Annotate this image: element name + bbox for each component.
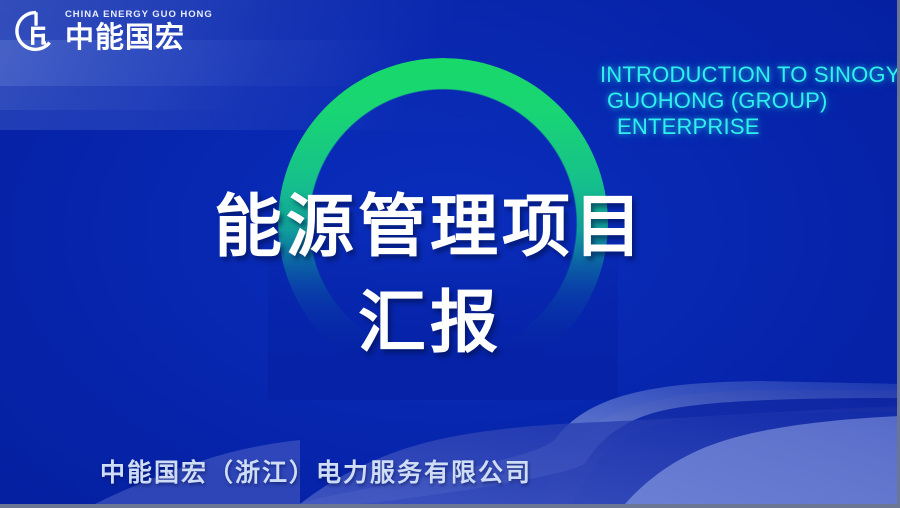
logo-english-name: CHINA ENERGY GUO HONG: [65, 10, 213, 20]
presentation-slide: CHINA ENERGY GUO HONG 中能国宏 INTRODUCTION …: [0, 0, 900, 508]
logo-wordmark: CHINA ENERGY GUO HONG 中能国宏: [65, 10, 213, 52]
page-title-line-2: 汇报: [0, 276, 860, 372]
english-subtitle-line-1: INTRODUCTION TO SINOGY: [600, 62, 900, 88]
english-subtitle-line-3: ENTERPRISE: [600, 114, 900, 140]
brand-logo: CHINA ENERGY GUO HONG 中能国宏: [14, 9, 213, 53]
logo-emblem-icon: [14, 9, 58, 53]
page-title-line-1: 能源管理项目: [214, 188, 646, 267]
page-title: 能源管理项目 汇报: [0, 180, 860, 372]
english-subtitle: INTRODUCTION TO SINOGY GUOHONG (GROUP) E…: [600, 62, 900, 140]
english-subtitle-line-2: GUOHONG (GROUP): [600, 88, 900, 114]
logo-chinese-name: 中能国宏: [65, 23, 213, 52]
company-name: 中能国宏（浙江）电力服务有限公司: [100, 453, 532, 489]
